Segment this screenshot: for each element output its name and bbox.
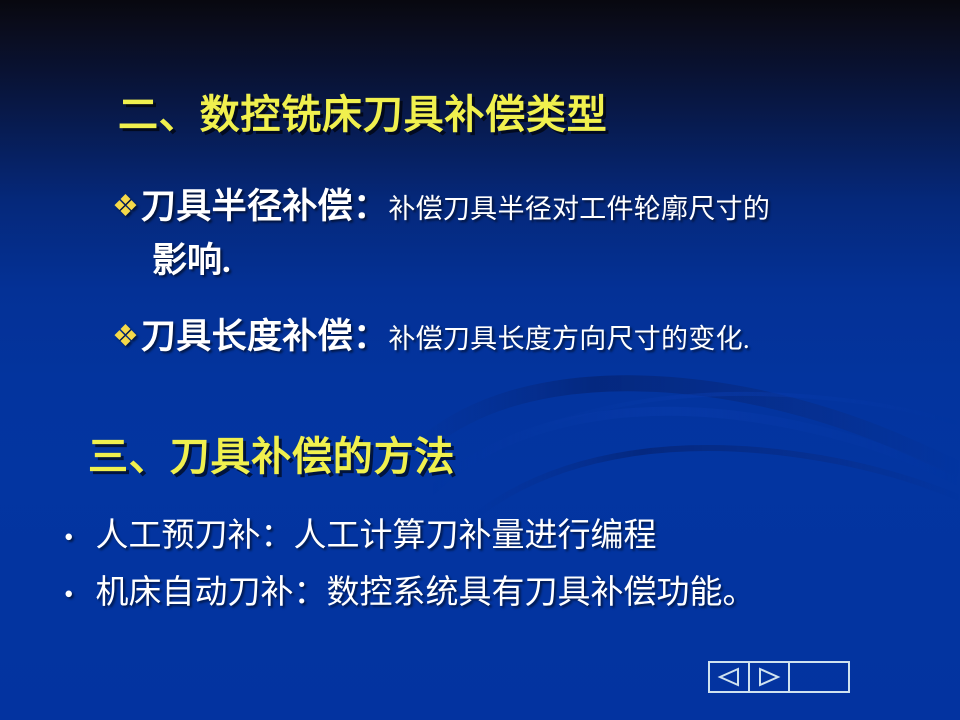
list-item-lead: 刀具半径补偿： (141, 178, 388, 229)
list-item-label: 人工预刀补：人工计算刀补量进行编程 (95, 508, 656, 556)
presentation-slide: 二、数控铣床刀具补偿类型 ❖ 刀具半径补偿： 补偿刀具半径对工件轮廓尺寸的 影响… (0, 0, 960, 720)
round-bullet-icon: • (64, 524, 73, 551)
next-slide-button[interactable] (748, 661, 790, 693)
list-item: • 人工预刀补：人工计算刀补量进行编程 (64, 508, 656, 556)
list-item-continuation: 影响. (152, 232, 231, 283)
previous-slide-button[interactable] (708, 661, 750, 693)
list-item-lead: 刀具长度补偿： (141, 308, 388, 359)
page-title-section-three: 三、刀具补偿的方法 (88, 434, 455, 480)
round-bullet-icon: • (64, 581, 73, 608)
list-item: ❖ 刀具半径补偿： 补偿刀具半径对工件轮廓尺寸的 (112, 178, 770, 229)
triangle-left-icon (717, 667, 741, 687)
diamond-bullet-icon: ❖ (112, 192, 139, 222)
navigation-blank-button[interactable] (788, 661, 850, 693)
list-item: • 机床自动刀补：数控系统具有刀具补偿功能。 (64, 565, 755, 613)
triangle-right-icon (757, 667, 781, 687)
list-item-description: 补偿刀具长度方向尺寸的变化. (388, 317, 750, 356)
list-item: ❖ 刀具长度补偿： 补偿刀具长度方向尺寸的变化. (112, 308, 750, 359)
slide-navigation-controls (708, 661, 848, 693)
page-title-section-two: 二、数控铣床刀具补偿类型 (118, 92, 608, 138)
diamond-bullet-icon: ❖ (112, 322, 139, 352)
list-item-description: 补偿刀具半径对工件轮廓尺寸的 (388, 187, 770, 226)
list-item-label: 机床自动刀补：数控系统具有刀具补偿功能。 (95, 565, 755, 613)
